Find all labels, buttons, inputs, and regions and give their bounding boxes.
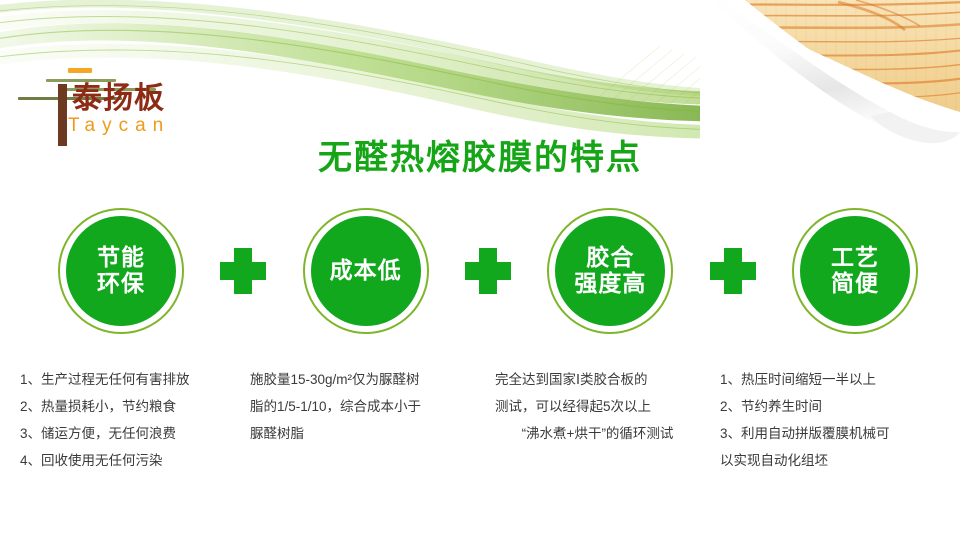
description-line: 4、回收使用无任何污染 [20, 447, 235, 474]
description-line: 3、利用自动拼版覆膜机械可 [720, 420, 945, 447]
feature-circle-label: 工艺 简便 [831, 245, 879, 297]
brand-logo[interactable]: 泰扬板 Taycan [18, 58, 208, 150]
description-line: 脲醛树脂 [250, 420, 455, 447]
plus-separator-1-icon [220, 248, 266, 294]
feature-circle-4[interactable]: 工艺 简便 [792, 208, 918, 334]
description-line: “沸水煮+烘干”的循环测试 [495, 420, 700, 447]
feature-circle-fill: 胶合 强度高 [555, 216, 665, 326]
description-line: 3、储运方便，无任何浪费 [20, 420, 235, 447]
description-column-4: 1、热压时间缩短一半以上 2、节约养生时间 3、利用自动拼版覆膜机械可 以实现自… [720, 366, 945, 474]
feature-circle-1[interactable]: 节能 环保 [58, 208, 184, 334]
logo-post-icon [58, 84, 67, 146]
feature-circle-label: 节能 环保 [97, 245, 145, 297]
description-line: 脂的1/5-1/10，综合成本小于 [250, 393, 455, 420]
description-columns: 1、生产过程无任何有害排放 2、热量损耗小，节约粮食 3、储运方便，无任何浪费 … [0, 366, 960, 496]
feature-circle-label: 成本低 [330, 258, 402, 284]
feature-circle-fill: 成本低 [311, 216, 421, 326]
description-line: 1、热压时间缩短一半以上 [720, 366, 945, 393]
description-line: 2、节约养生时间 [720, 393, 945, 420]
slide-canvas: 泰扬板 Taycan 无醛热熔胶膜的特点 节能 环保 成本低 胶合 强度高 工艺… [0, 0, 960, 540]
page-title: 无醛热熔胶膜的特点 [0, 138, 960, 179]
description-line: 2、热量损耗小，节约粮食 [20, 393, 235, 420]
feature-circle-3[interactable]: 胶合 强度高 [547, 208, 673, 334]
plus-separator-3-icon [710, 248, 756, 294]
description-column-1: 1、生产过程无任何有害排放 2、热量损耗小，节约粮食 3、储运方便，无任何浪费 … [20, 366, 235, 474]
logo-orange-bar-icon [68, 68, 92, 73]
feature-circle-fill: 工艺 简便 [800, 216, 910, 326]
page-curl [700, 0, 960, 150]
feature-circle-2[interactable]: 成本低 [303, 208, 429, 334]
description-line: 测试，可以经得起5次以上 [495, 393, 700, 420]
description-line: 1、生产过程无任何有害排放 [20, 366, 235, 393]
feature-circle-fill: 节能 环保 [66, 216, 176, 326]
description-line: 以实现自动化组坯 [720, 447, 945, 474]
description-column-2: 施胶量15-30g/m²仅为脲醛树 脂的1/5-1/10，综合成本小于 脲醛树脂 [250, 366, 455, 447]
feature-circle-label: 胶合 强度高 [574, 245, 646, 297]
description-line: 完全达到国家Ⅰ类胶合板的 [495, 366, 700, 393]
description-line: 施胶量15-30g/m²仅为脲醛树 [250, 366, 455, 393]
feature-circle-row: 节能 环保 成本低 胶合 强度高 工艺 简便 [58, 208, 918, 334]
description-column-3: 完全达到国家Ⅰ类胶合板的 测试，可以经得起5次以上 “沸水煮+烘干”的循环测试 [495, 366, 700, 447]
plus-separator-2-icon [465, 248, 511, 294]
wood-texture [690, 0, 960, 120]
logo-english-name: Taycan [68, 116, 170, 135]
logo-chinese-name: 泰扬板 [72, 84, 165, 114]
